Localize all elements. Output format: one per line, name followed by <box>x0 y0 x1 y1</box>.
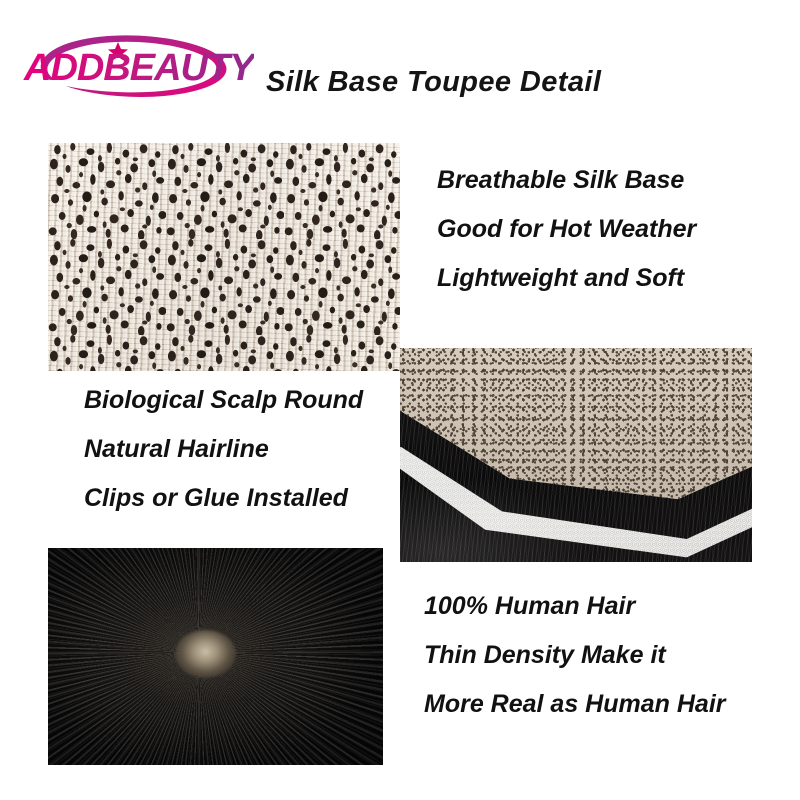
page-title: Silk Base Toupee Detail <box>266 66 601 99</box>
callout-biological-scalp: Biological Scalp Round Natural Hairline … <box>84 384 379 547</box>
callout-line: Biological Scalp Round <box>84 388 363 413</box>
photo-toupee-corner <box>400 348 752 562</box>
callout-line: Clips or Glue Installed <box>84 486 363 511</box>
photo-hair-crown-whorl <box>48 548 383 765</box>
callout-line: Breathable Silk Base <box>437 168 696 193</box>
callout-line: Thin Density Make it <box>424 643 726 668</box>
photo-silk-base-mesh <box>48 143 400 371</box>
callout-line: More Real as Human Hair <box>424 692 726 717</box>
callout-breathable-silk-base: Breathable Silk Base Good for Hot Weathe… <box>437 168 696 315</box>
logo-wordmark: ADDBEAUTY <box>23 47 254 89</box>
crown-vignette <box>48 548 383 765</box>
product-detail-infographic: ADDBEAUTY Silk Base Toupee Detail Breath… <box>0 0 800 800</box>
callout-line: Lightweight and Soft <box>437 266 696 291</box>
addbeauty-logo: ADDBEAUTY <box>14 18 254 108</box>
callout-line: Natural Hairline <box>84 437 363 462</box>
mesh-lighting <box>48 143 400 371</box>
toupee-highlight <box>400 348 752 562</box>
callout-line: Good for Hot Weather <box>437 217 696 242</box>
callout-line: 100% Human Hair <box>424 594 726 619</box>
callout-human-hair: 100% Human Hair Thin Density Make it Mor… <box>424 590 742 753</box>
